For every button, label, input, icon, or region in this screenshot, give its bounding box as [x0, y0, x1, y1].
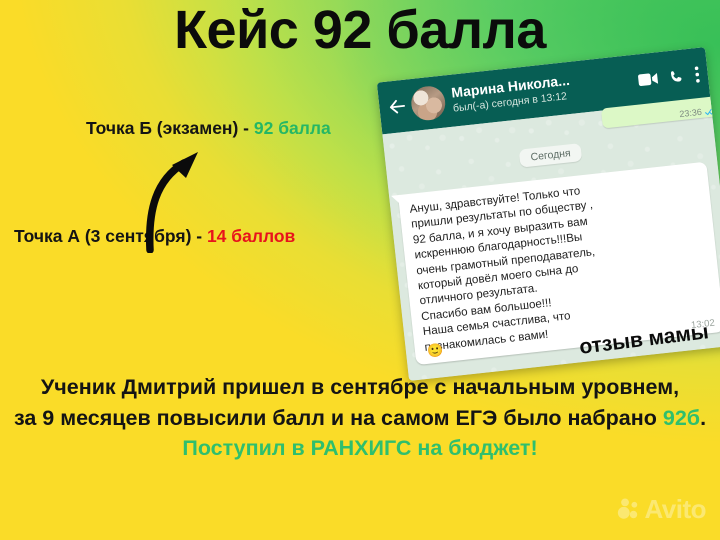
bottom-text-block: Ученик Дмитрий пришел в сентябре с начал…: [0, 372, 720, 464]
avito-watermark-text: Avito: [644, 496, 706, 522]
bottom-line-3: Поступил в РАНХИГС на бюджет!: [0, 433, 720, 464]
back-arrow-icon[interactable]: [386, 96, 408, 118]
annotation-point-b-label: Точка Б (экзамен) -: [86, 118, 254, 138]
phone-call-icon[interactable]: [668, 68, 685, 85]
bottom-line-2-suffix: .: [700, 406, 706, 430]
avito-dots-logo-icon: [617, 498, 639, 520]
bottom-line-2: за 9 месяцев повысили балл и на самом ЕГ…: [0, 403, 720, 434]
smiley-emoji-icon: 🙂: [426, 342, 444, 360]
video-call-icon[interactable]: [637, 71, 658, 87]
curved-arrow-up-right-icon: [120, 138, 240, 253]
outgoing-message-time: 23:36: [679, 107, 702, 119]
annotation-point-b-value: 92 балла: [254, 118, 331, 138]
bottom-line-2-prefix: за 9 месяцев повысили балл и на самом ЕГ…: [14, 406, 663, 430]
bottom-line-1: Ученик Дмитрий пришел в сентябре с начал…: [0, 372, 720, 403]
header-actions: [631, 65, 700, 89]
avito-watermark: Avito: [617, 496, 706, 522]
bottom-line-2-score: 92б: [663, 406, 700, 430]
annotation-point-b: Точка Б (экзамен) - 92 балла: [86, 118, 331, 139]
page-title: Кейс 92 балла: [0, 2, 720, 59]
day-divider-chip: Сегодня: [519, 143, 583, 168]
poster-canvas: Кейс 92 балла Точка Б (экзамен) - 92 бал…: [0, 0, 720, 540]
overflow-menu-icon[interactable]: [694, 65, 701, 82]
avatar[interactable]: [410, 85, 447, 122]
